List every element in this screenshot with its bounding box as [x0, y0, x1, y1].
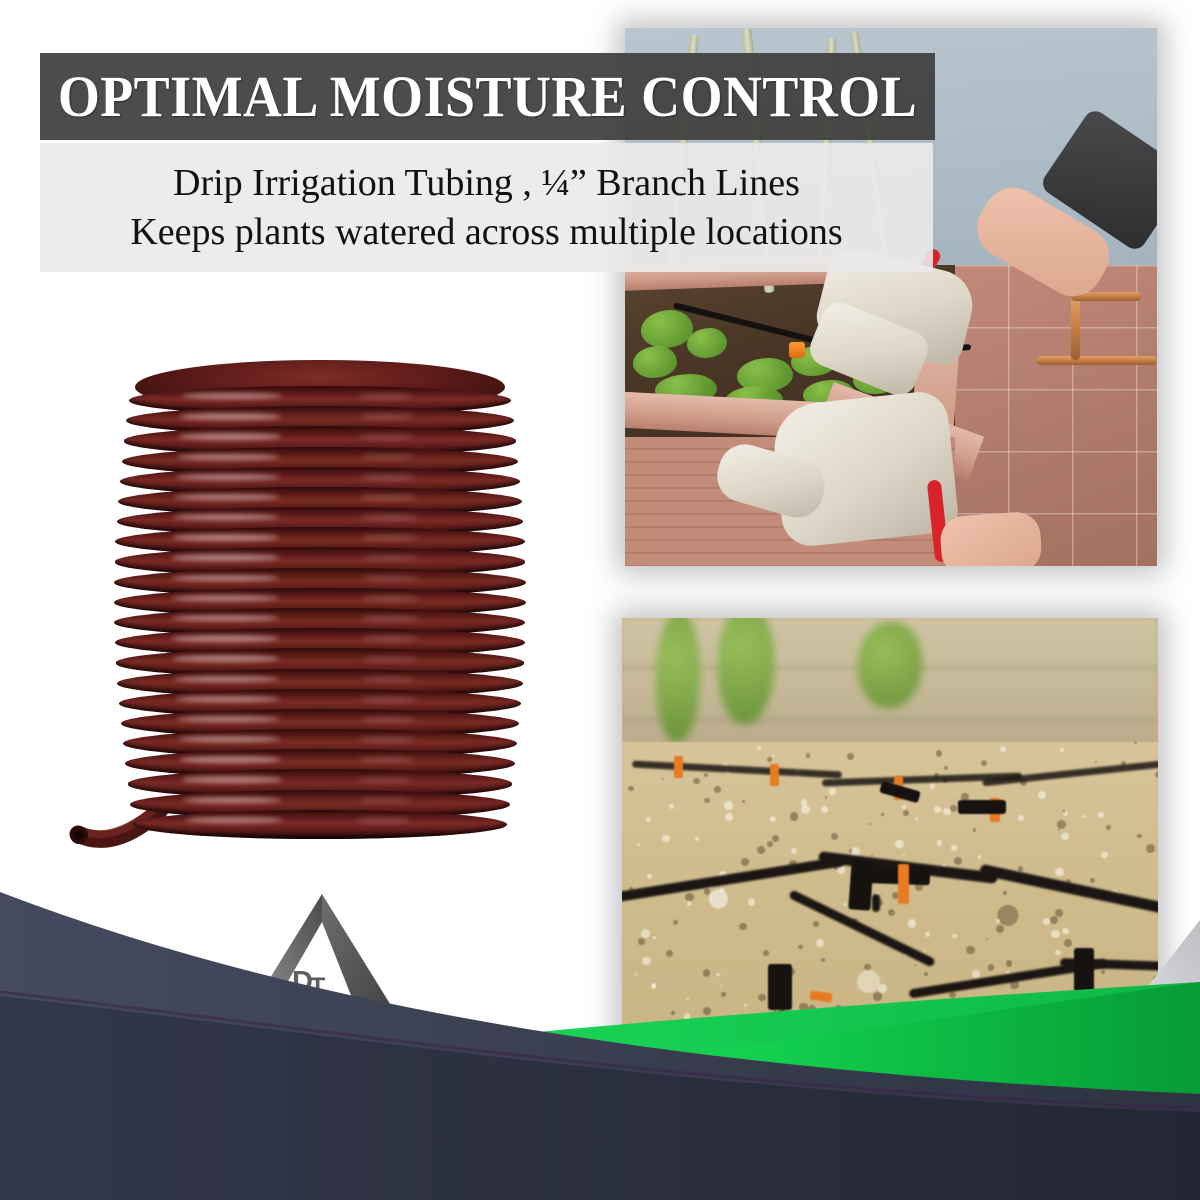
soil-grain — [693, 778, 699, 784]
coil-highlight — [175, 696, 280, 702]
soil-grain — [770, 816, 776, 822]
soil-grain — [1098, 812, 1104, 818]
soil-grain — [801, 805, 809, 813]
soil-grain — [725, 813, 733, 821]
coil-highlight — [183, 797, 282, 803]
soil-grain — [767, 757, 772, 762]
soil-grain — [714, 786, 721, 793]
headline-band: OPTIMAL MOISTURE CONTROL — [40, 53, 935, 140]
coil-highlight — [357, 818, 409, 823]
soil-grain — [772, 755, 775, 758]
soil-grain — [646, 817, 651, 822]
soil-grain — [1095, 761, 1097, 763]
soil-grain — [662, 778, 664, 780]
coil-highlight — [358, 394, 412, 399]
soil-grain — [628, 786, 634, 792]
soil-grain — [903, 810, 909, 816]
soil-grain — [978, 855, 981, 858]
coil-highlight — [172, 575, 279, 581]
soil-grain — [741, 858, 749, 866]
soil-grain — [1057, 820, 1066, 829]
coil-highlight — [360, 475, 416, 480]
copper-pipe — [1037, 356, 1157, 365]
soil-grain — [669, 804, 674, 809]
soil-grain — [757, 746, 760, 749]
soil-grain — [829, 788, 836, 795]
subtitle-block: Drip Irrigation Tubing , ¼” Branch Lines… — [40, 143, 933, 272]
soil-grain — [981, 760, 988, 767]
coil-turn — [133, 810, 507, 839]
soil-grain — [1101, 852, 1108, 859]
soil-grain — [724, 801, 733, 810]
soil-grain — [973, 828, 976, 831]
coil-highlight — [361, 616, 419, 621]
soil-grain — [895, 840, 903, 848]
soil-grain — [915, 817, 918, 820]
soil-grain — [869, 823, 871, 825]
soil-grain — [1137, 834, 1142, 839]
coil-highlight — [360, 455, 416, 460]
drip-emitter — [789, 342, 805, 358]
coil-highlight — [360, 495, 417, 500]
coil-highlight — [359, 737, 414, 742]
coil-highlight — [359, 757, 414, 762]
coil-highlight — [182, 393, 281, 399]
emitter-body — [958, 800, 1006, 814]
coil-highlight — [185, 817, 282, 823]
soil-grain — [950, 805, 957, 812]
coil-highlight — [361, 556, 418, 561]
soil-grain — [647, 874, 652, 879]
soil-grain — [1083, 815, 1086, 818]
soil-grain — [944, 766, 948, 770]
soil-grain — [1155, 771, 1158, 778]
product-coil — [110, 360, 530, 860]
coil-highlight — [358, 798, 411, 803]
soil-grain — [695, 837, 699, 841]
coil-highlight — [180, 756, 281, 762]
coil-highlight — [361, 576, 419, 581]
coil-highlight — [361, 535, 418, 540]
coil-highlight — [361, 515, 418, 520]
soil-grain — [637, 843, 639, 845]
coil-highlight — [361, 596, 419, 601]
soil-grain — [767, 841, 773, 847]
coil-highlight — [174, 494, 279, 500]
bottom-swoosh-decoration — [0, 880, 1200, 1200]
soil-grain — [1018, 815, 1024, 821]
soil-grain — [903, 854, 905, 856]
coil-highlight — [361, 677, 418, 682]
copper-pipe — [1071, 296, 1080, 360]
coil-highlight — [359, 435, 414, 440]
soil-grain — [790, 812, 798, 820]
soil-grain — [801, 799, 807, 805]
soil-grain — [662, 835, 669, 842]
soil-grain — [954, 857, 962, 865]
coil-highlight — [358, 778, 412, 783]
emitter-clip — [770, 764, 779, 786]
coil-highlight — [179, 433, 281, 439]
soil-grain — [1146, 844, 1155, 853]
soil-grain — [847, 753, 854, 760]
soil-grain — [825, 796, 828, 799]
soil-grain — [1134, 742, 1137, 745]
soil-grain — [1055, 868, 1064, 877]
subtitle-line-2: Keeps plants watered across multiple loc… — [130, 208, 842, 257]
coil-highlight — [172, 635, 279, 641]
soil-grain — [936, 750, 942, 756]
coil-highlight — [173, 534, 279, 540]
soil-grain — [1060, 748, 1064, 752]
emitter-clip — [674, 756, 683, 778]
coil-highlight — [180, 413, 281, 419]
soil-grain — [791, 848, 797, 854]
soil-grain — [902, 805, 905, 808]
soil-grain — [772, 835, 779, 842]
coil-highlight — [361, 657, 418, 662]
soil-grain — [704, 798, 709, 803]
soil-grain — [1038, 791, 1046, 799]
soil-grain — [937, 840, 942, 845]
coil-highlight — [173, 655, 279, 661]
soil-grain — [943, 808, 951, 816]
coil-highlight — [359, 414, 413, 419]
page-title: OPTIMAL MOISTURE CONTROL — [71, 53, 903, 140]
subtitle-line-1: Drip Irrigation Tubing , ¼” Branch Lines — [173, 159, 800, 208]
product-marketing-image: OPTIMAL MOISTURE CONTROL Drip Irrigation… — [0, 0, 1200, 1200]
blurred-plant — [656, 618, 700, 742]
soil-grain — [881, 813, 884, 816]
coil-highlight — [173, 514, 279, 520]
coil-highlight — [361, 636, 418, 641]
soil-grain — [831, 833, 838, 840]
coil-highlight — [172, 554, 279, 560]
soil-grain — [1000, 746, 1006, 752]
coil-highlight — [177, 716, 281, 722]
coil-highlight — [182, 776, 282, 782]
coil-highlight — [172, 615, 279, 621]
coil-highlight — [174, 676, 279, 682]
soil-grain — [757, 846, 765, 854]
subtitle-band: Drip Irrigation Tubing , ¼” Branch Lines… — [40, 143, 933, 272]
forearm — [939, 511, 1043, 566]
coil-highlight — [178, 736, 281, 742]
soil-grain — [1058, 829, 1060, 831]
soil-grain — [1106, 825, 1111, 830]
soil-grain — [930, 783, 936, 789]
coil-highlight — [177, 454, 280, 460]
coil-highlight — [176, 474, 280, 480]
coil-highlight — [172, 595, 279, 601]
coil-highlight — [360, 697, 416, 702]
soil-grain — [704, 773, 708, 777]
coil-highlight — [360, 717, 416, 722]
soil-grain — [821, 806, 828, 813]
soil-grain — [806, 753, 810, 757]
soil-grain — [934, 806, 941, 813]
blurred-plant — [858, 622, 922, 708]
soil-grain — [951, 845, 957, 851]
soil-grain — [1061, 833, 1069, 841]
soil-grain — [742, 800, 745, 803]
